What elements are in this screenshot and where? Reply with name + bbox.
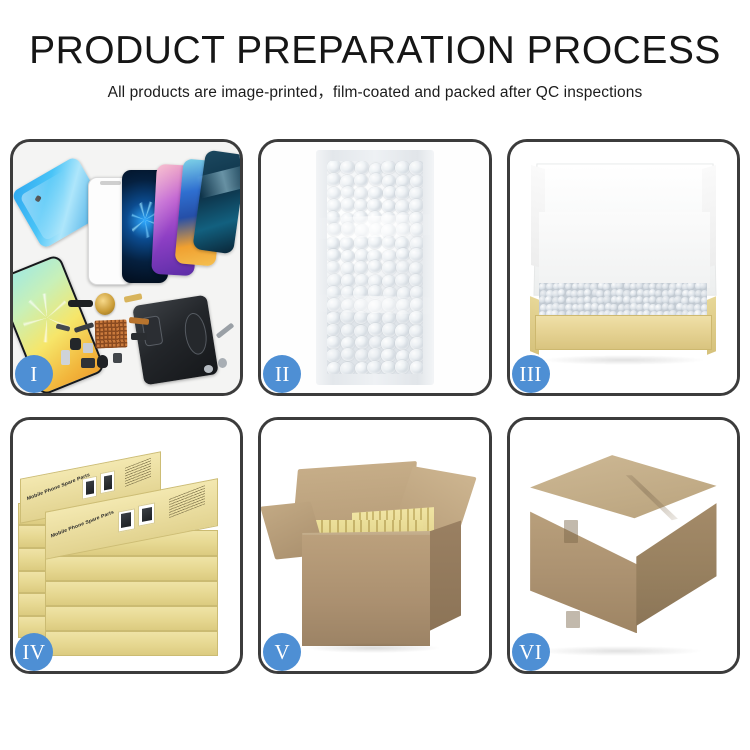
bubble bbox=[382, 261, 396, 274]
process-step-card-3: III bbox=[507, 139, 740, 396]
step-badge-1: I bbox=[15, 355, 53, 393]
carton-shadow bbox=[307, 643, 439, 653]
bubble bbox=[340, 362, 354, 373]
bubble bbox=[395, 161, 409, 174]
bubble bbox=[341, 324, 355, 337]
spare-part bbox=[97, 355, 108, 368]
process-step-card-4: Mobile Phone Spare Parts Mobile Phone Sp… bbox=[10, 417, 243, 674]
bubble bbox=[584, 303, 591, 311]
bubble bbox=[354, 174, 368, 187]
page-title: PRODUCT PREPARATION PROCESS bbox=[0, 28, 750, 74]
stacked-box bbox=[45, 631, 218, 656]
bubble bbox=[649, 296, 656, 304]
bubble bbox=[341, 250, 355, 263]
bubble bbox=[396, 248, 410, 261]
bubble bbox=[616, 296, 623, 304]
product-preparation-infographic: PRODUCT PREPARATION PROCESS All products… bbox=[0, 0, 750, 750]
bubble bbox=[355, 161, 369, 174]
speaker-coil-part bbox=[95, 293, 115, 316]
spare-part bbox=[61, 350, 70, 365]
bubble bbox=[340, 310, 354, 323]
bubble-highlight bbox=[316, 294, 435, 314]
bubble-wrap-bubbles bbox=[327, 161, 424, 373]
box-window bbox=[138, 503, 155, 527]
sealed-carton-left bbox=[530, 508, 637, 634]
bubble bbox=[545, 296, 552, 304]
bubble bbox=[558, 296, 565, 304]
bubble bbox=[395, 186, 409, 199]
box-shadow bbox=[541, 355, 705, 365]
box-window bbox=[82, 476, 97, 500]
process-step-card-2: II bbox=[258, 139, 491, 396]
bubble bbox=[409, 248, 423, 261]
stacked-box bbox=[45, 606, 218, 631]
bubble bbox=[368, 323, 382, 336]
bubble bbox=[395, 360, 409, 373]
stacked-boxes-photo: Mobile Phone Spare Parts Mobile Phone Sp… bbox=[13, 420, 240, 671]
step-badge-4: IV bbox=[15, 633, 53, 671]
spare-part bbox=[129, 317, 150, 325]
process-step-card-5: V bbox=[258, 417, 491, 674]
spare-part bbox=[218, 358, 227, 368]
sealed-carton-photo bbox=[510, 420, 737, 671]
bubble bbox=[395, 274, 409, 287]
box-kraft-tray bbox=[535, 315, 712, 350]
stacked-box bbox=[45, 556, 218, 581]
phone-parts-photo bbox=[13, 142, 240, 393]
spare-part bbox=[124, 293, 143, 302]
bubble bbox=[355, 336, 369, 349]
bubble bbox=[368, 260, 382, 273]
bubble bbox=[327, 261, 341, 274]
spare-part bbox=[83, 343, 92, 353]
carton-side-panel bbox=[430, 520, 462, 630]
bubble-highlight bbox=[316, 214, 435, 239]
spare-part bbox=[216, 322, 235, 339]
bubble bbox=[369, 173, 383, 186]
bubble bbox=[327, 161, 341, 173]
carton-tape-mark bbox=[564, 520, 578, 543]
step-badge-3: III bbox=[512, 355, 550, 393]
process-steps-grid: I II bbox=[10, 139, 740, 674]
bubble bbox=[381, 361, 395, 374]
page-subtitle: All products are image-printed，film-coat… bbox=[0, 83, 750, 102]
bubble bbox=[409, 161, 423, 174]
copper-shield-part bbox=[94, 320, 127, 349]
bubble-wrap-sheet bbox=[316, 150, 434, 386]
bubble bbox=[354, 311, 368, 324]
stacked-box bbox=[45, 581, 218, 606]
bubble bbox=[354, 261, 368, 274]
sealed-carton-shadow bbox=[537, 646, 701, 656]
bubble bbox=[327, 349, 341, 362]
sealed-carton-right bbox=[635, 495, 717, 626]
bubble-wrapped-items bbox=[539, 283, 707, 318]
spare-part bbox=[131, 333, 147, 341]
bubble bbox=[368, 348, 382, 361]
inner-box-photo bbox=[510, 142, 737, 393]
bubble bbox=[340, 237, 354, 250]
bubble bbox=[355, 349, 369, 362]
process-step-card-1: I bbox=[10, 139, 243, 396]
bubble bbox=[354, 236, 368, 249]
bubble bbox=[367, 361, 381, 374]
film-chip bbox=[35, 195, 43, 203]
spare-part bbox=[81, 358, 95, 368]
carton-tape-mark bbox=[566, 611, 580, 629]
process-step-card-6: VI bbox=[507, 417, 740, 674]
bubble bbox=[327, 336, 341, 349]
box-spec-text bbox=[169, 486, 205, 519]
bubble bbox=[341, 348, 355, 361]
step-badge-6: VI bbox=[512, 633, 550, 671]
bubble bbox=[700, 283, 707, 290]
box-foam-insert bbox=[539, 212, 709, 287]
bubble bbox=[382, 236, 396, 249]
bubble-wrap-photo bbox=[261, 142, 488, 393]
bubble bbox=[395, 336, 409, 349]
bubble bbox=[410, 361, 424, 374]
box-spec-text bbox=[125, 458, 151, 487]
bubble bbox=[327, 362, 341, 374]
box-brand-label: Mobile Phone Spare Parts bbox=[26, 472, 90, 502]
box-window bbox=[118, 508, 135, 532]
bubble bbox=[327, 173, 341, 186]
box-window bbox=[100, 471, 115, 495]
bubble bbox=[341, 186, 355, 199]
bubble bbox=[340, 161, 354, 174]
header: PRODUCT PREPARATION PROCESS All products… bbox=[0, 28, 750, 102]
bubble bbox=[381, 161, 395, 174]
carton-front-panel bbox=[302, 535, 429, 645]
carton-loading-photo bbox=[261, 420, 488, 671]
spare-part bbox=[204, 365, 213, 373]
bubble bbox=[409, 199, 423, 212]
spare-part bbox=[70, 338, 81, 351]
spare-part bbox=[113, 353, 122, 363]
spare-part bbox=[68, 300, 93, 307]
box-brand-label: Mobile Phone Spare Parts bbox=[50, 510, 114, 540]
